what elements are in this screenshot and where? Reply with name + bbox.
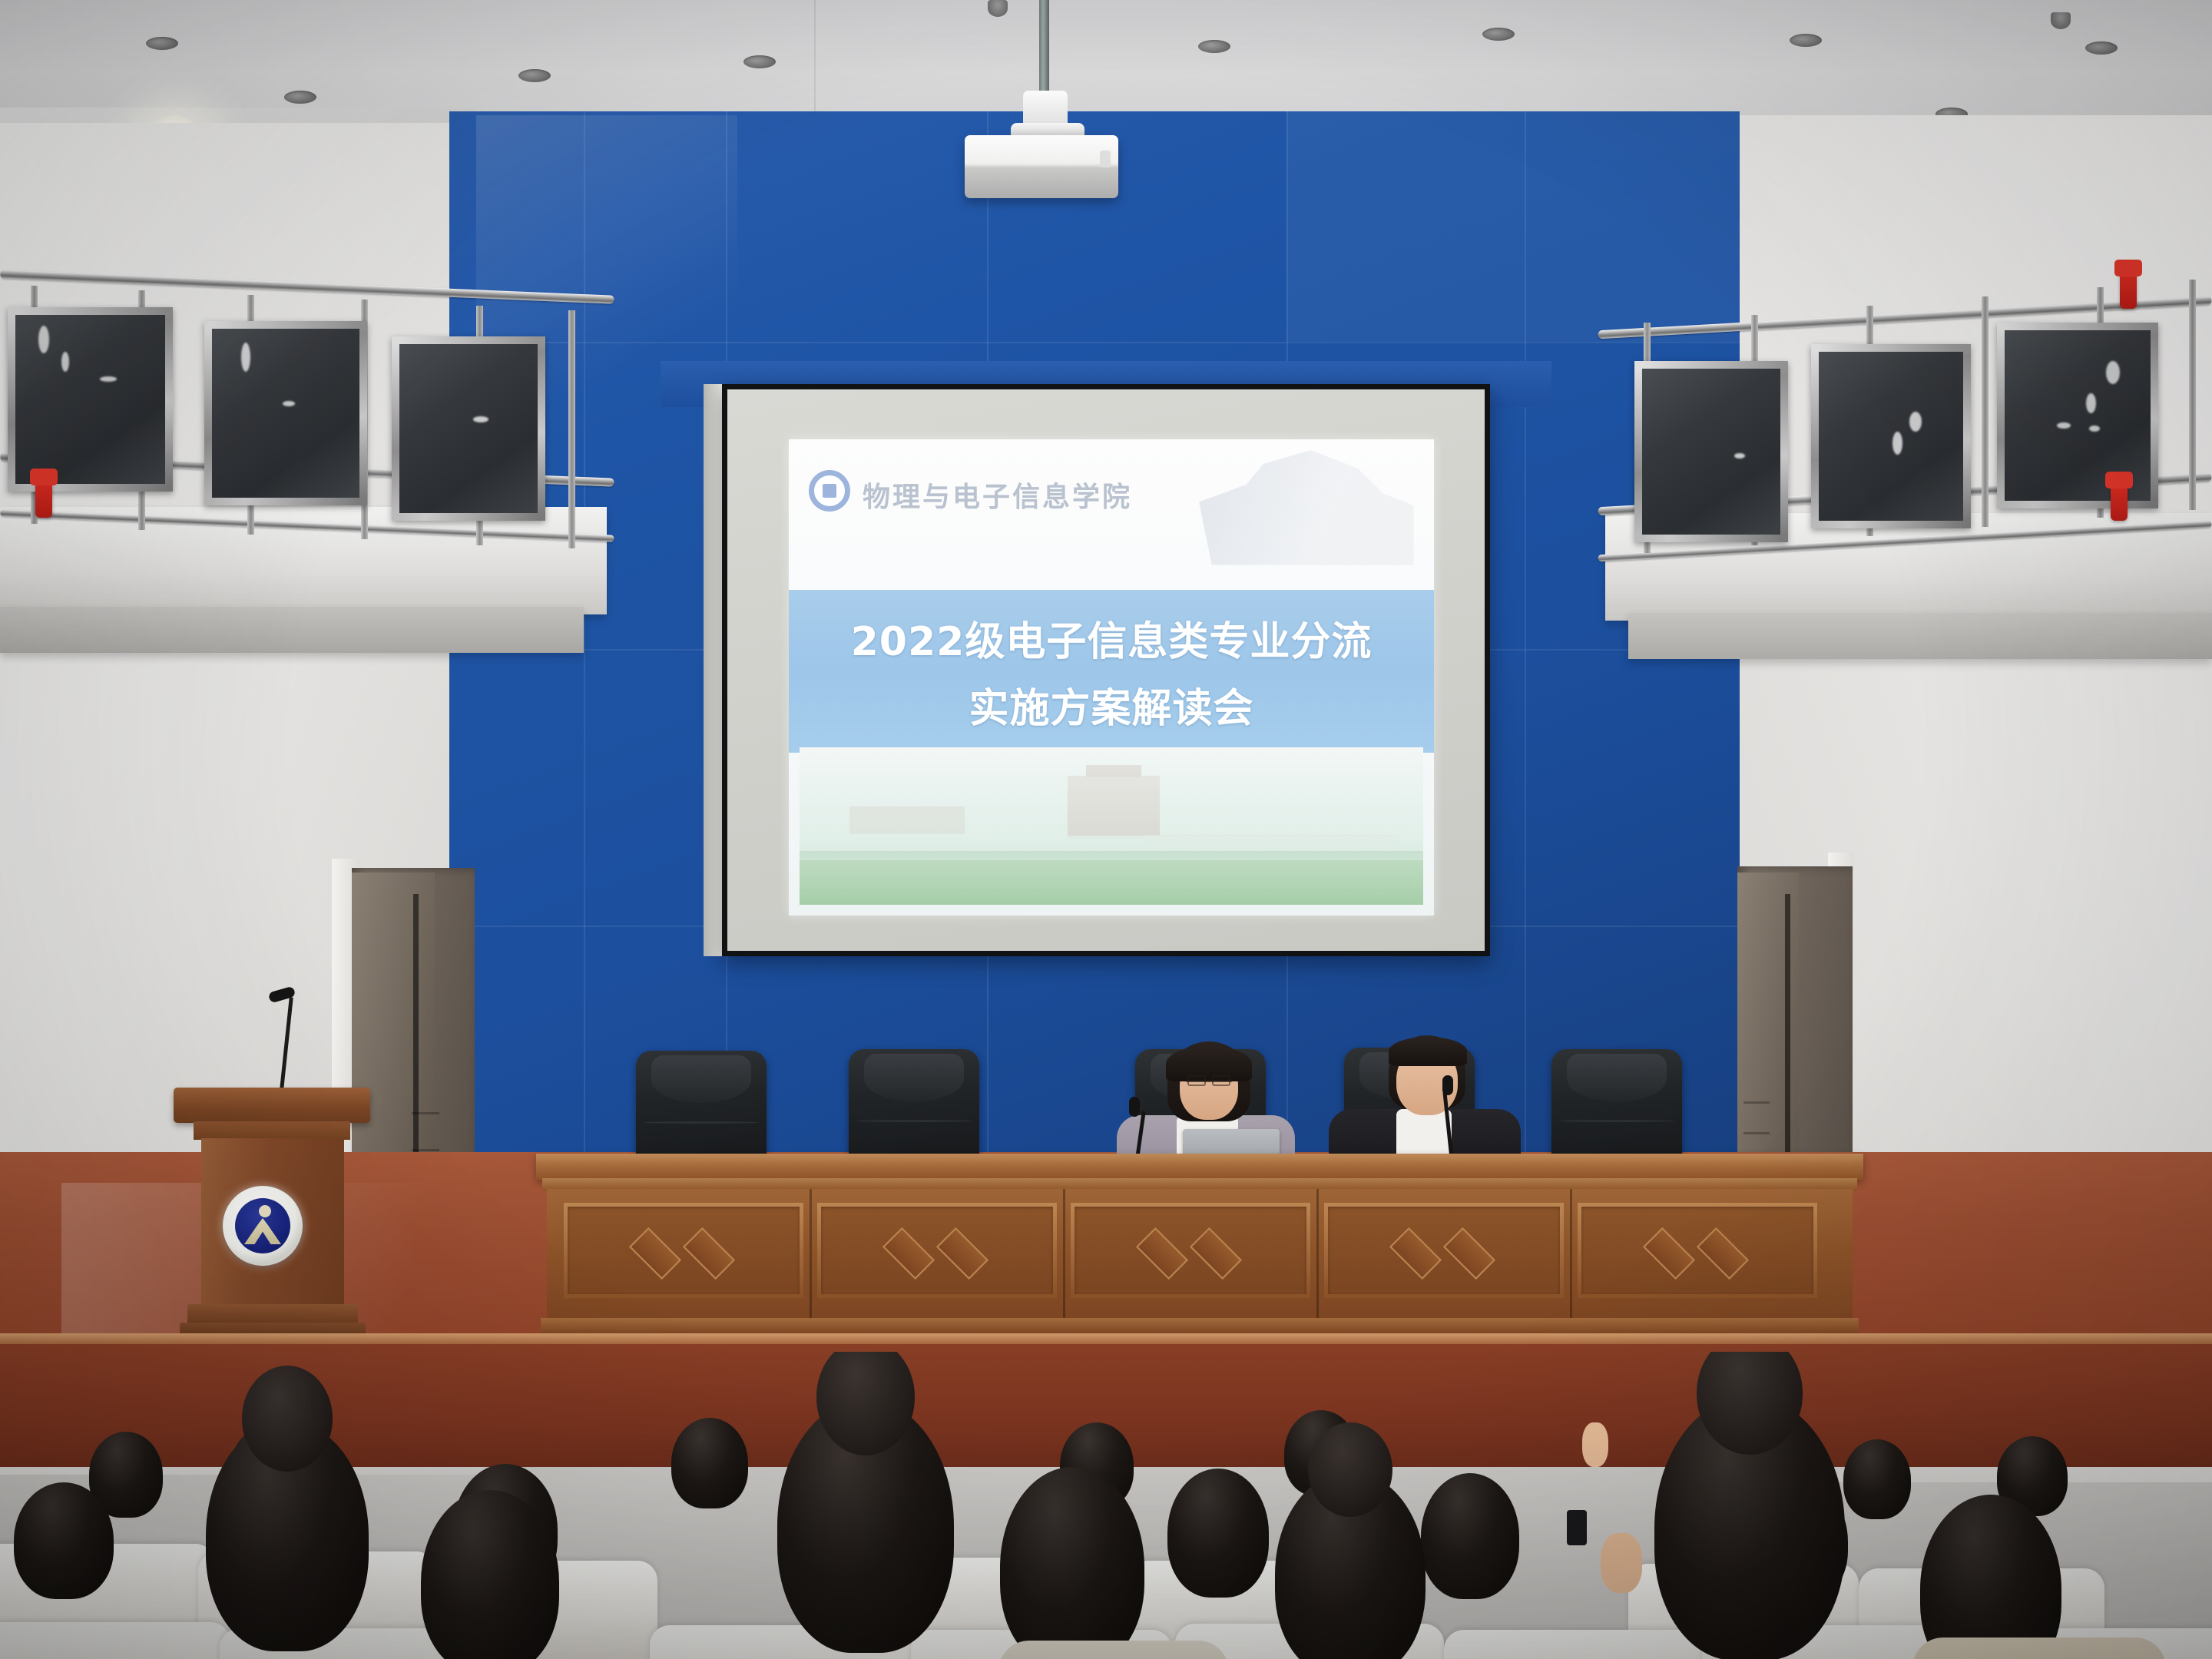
college-name-label: 物理与电子信息学院 xyxy=(863,475,1132,515)
slide-header: 物理与电子信息学院 xyxy=(789,439,1434,589)
slide-title-band: 2022级电子信息类专业分流 实施方案解读会 xyxy=(789,590,1434,753)
downlight-icon xyxy=(518,69,551,82)
university-emblem-icon xyxy=(223,1186,303,1266)
smartphone xyxy=(1567,1510,1587,1545)
head-table xyxy=(547,1154,1853,1343)
table-microphone-head-icon xyxy=(1442,1075,1453,1095)
balcony-glass-panel xyxy=(1811,344,1971,528)
balcony-glass-panel xyxy=(8,307,173,492)
audience-seatback xyxy=(0,1622,230,1659)
red-knot-decoration xyxy=(2111,476,2128,521)
stage-apron-edge xyxy=(0,1333,2212,1344)
auditorium-scene: 物理与电子信息学院 2022级电子信息类专业分流 实施方案解读会 2023年4月… xyxy=(0,0,2212,1659)
audience-head xyxy=(14,1482,114,1599)
balcony-glass-panel xyxy=(1997,323,2158,508)
screen-side-edge xyxy=(704,384,722,956)
downlight-icon xyxy=(1790,34,1822,47)
audience-head xyxy=(1421,1473,1519,1599)
table-microphone-head-icon xyxy=(1129,1097,1140,1117)
downlight-icon xyxy=(284,91,316,104)
stage-chair xyxy=(636,1051,767,1166)
raised-hand xyxy=(1582,1422,1608,1467)
downlight-icon xyxy=(2085,41,2118,55)
audience-head xyxy=(1167,1469,1269,1598)
table-panel xyxy=(1578,1203,1817,1298)
projector-pole xyxy=(1039,0,1049,101)
balcony-glass-panel xyxy=(204,321,367,505)
audience-area xyxy=(0,1352,2212,1659)
presentation-slide: 物理与电子信息学院 2022级电子信息类专业分流 实施方案解读会 2023年4月… xyxy=(789,439,1434,916)
sprinkler-icon xyxy=(2051,12,2071,29)
downlight-icon xyxy=(1482,28,1515,41)
ceiling-projector xyxy=(965,135,1118,198)
stage-chair xyxy=(1551,1049,1682,1164)
audience-head xyxy=(671,1418,748,1508)
audience-head xyxy=(1275,1472,1426,1659)
downlight-icon xyxy=(146,37,178,50)
red-knot-decoration xyxy=(35,473,52,518)
podium xyxy=(183,1088,361,1346)
downlight-icon xyxy=(743,55,776,68)
slide-watermark-graphic xyxy=(1199,450,1414,565)
red-knot-decoration xyxy=(2120,264,2137,309)
balcony-glass-panel xyxy=(1634,361,1788,542)
slide-campus-photo xyxy=(800,747,1423,905)
table-panel xyxy=(817,1203,1057,1298)
projector-lens-icon xyxy=(1100,151,1111,167)
table-panel xyxy=(1071,1203,1310,1298)
audience-head xyxy=(777,1399,954,1653)
sprinkler-icon xyxy=(988,0,1008,17)
audience-head xyxy=(206,1421,369,1651)
audience-hand xyxy=(1601,1533,1642,1593)
audience-head xyxy=(1000,1467,1144,1659)
college-logo-icon xyxy=(809,470,850,512)
slide-title-line-2: 实施方案解读会 xyxy=(969,676,1253,733)
slide-title-line-1: 2022级电子信息类专业分流 xyxy=(851,609,1373,667)
balcony-glass-panel xyxy=(392,336,545,521)
audience-seatback xyxy=(1444,1630,1705,1659)
audience-shoulder xyxy=(1912,1637,2166,1659)
audience-head xyxy=(1920,1495,2061,1659)
audience-head xyxy=(1654,1396,1845,1659)
audience-shoulder xyxy=(998,1641,1229,1659)
table-panel xyxy=(564,1203,803,1298)
stage-chair xyxy=(849,1049,979,1164)
projection-screen: 物理与电子信息学院 2022级电子信息类专业分流 实施方案解读会 2023年4月… xyxy=(722,384,1490,956)
downlight-icon xyxy=(1198,40,1230,53)
table-panel xyxy=(1324,1203,1564,1298)
audience-head xyxy=(1843,1439,1911,1519)
